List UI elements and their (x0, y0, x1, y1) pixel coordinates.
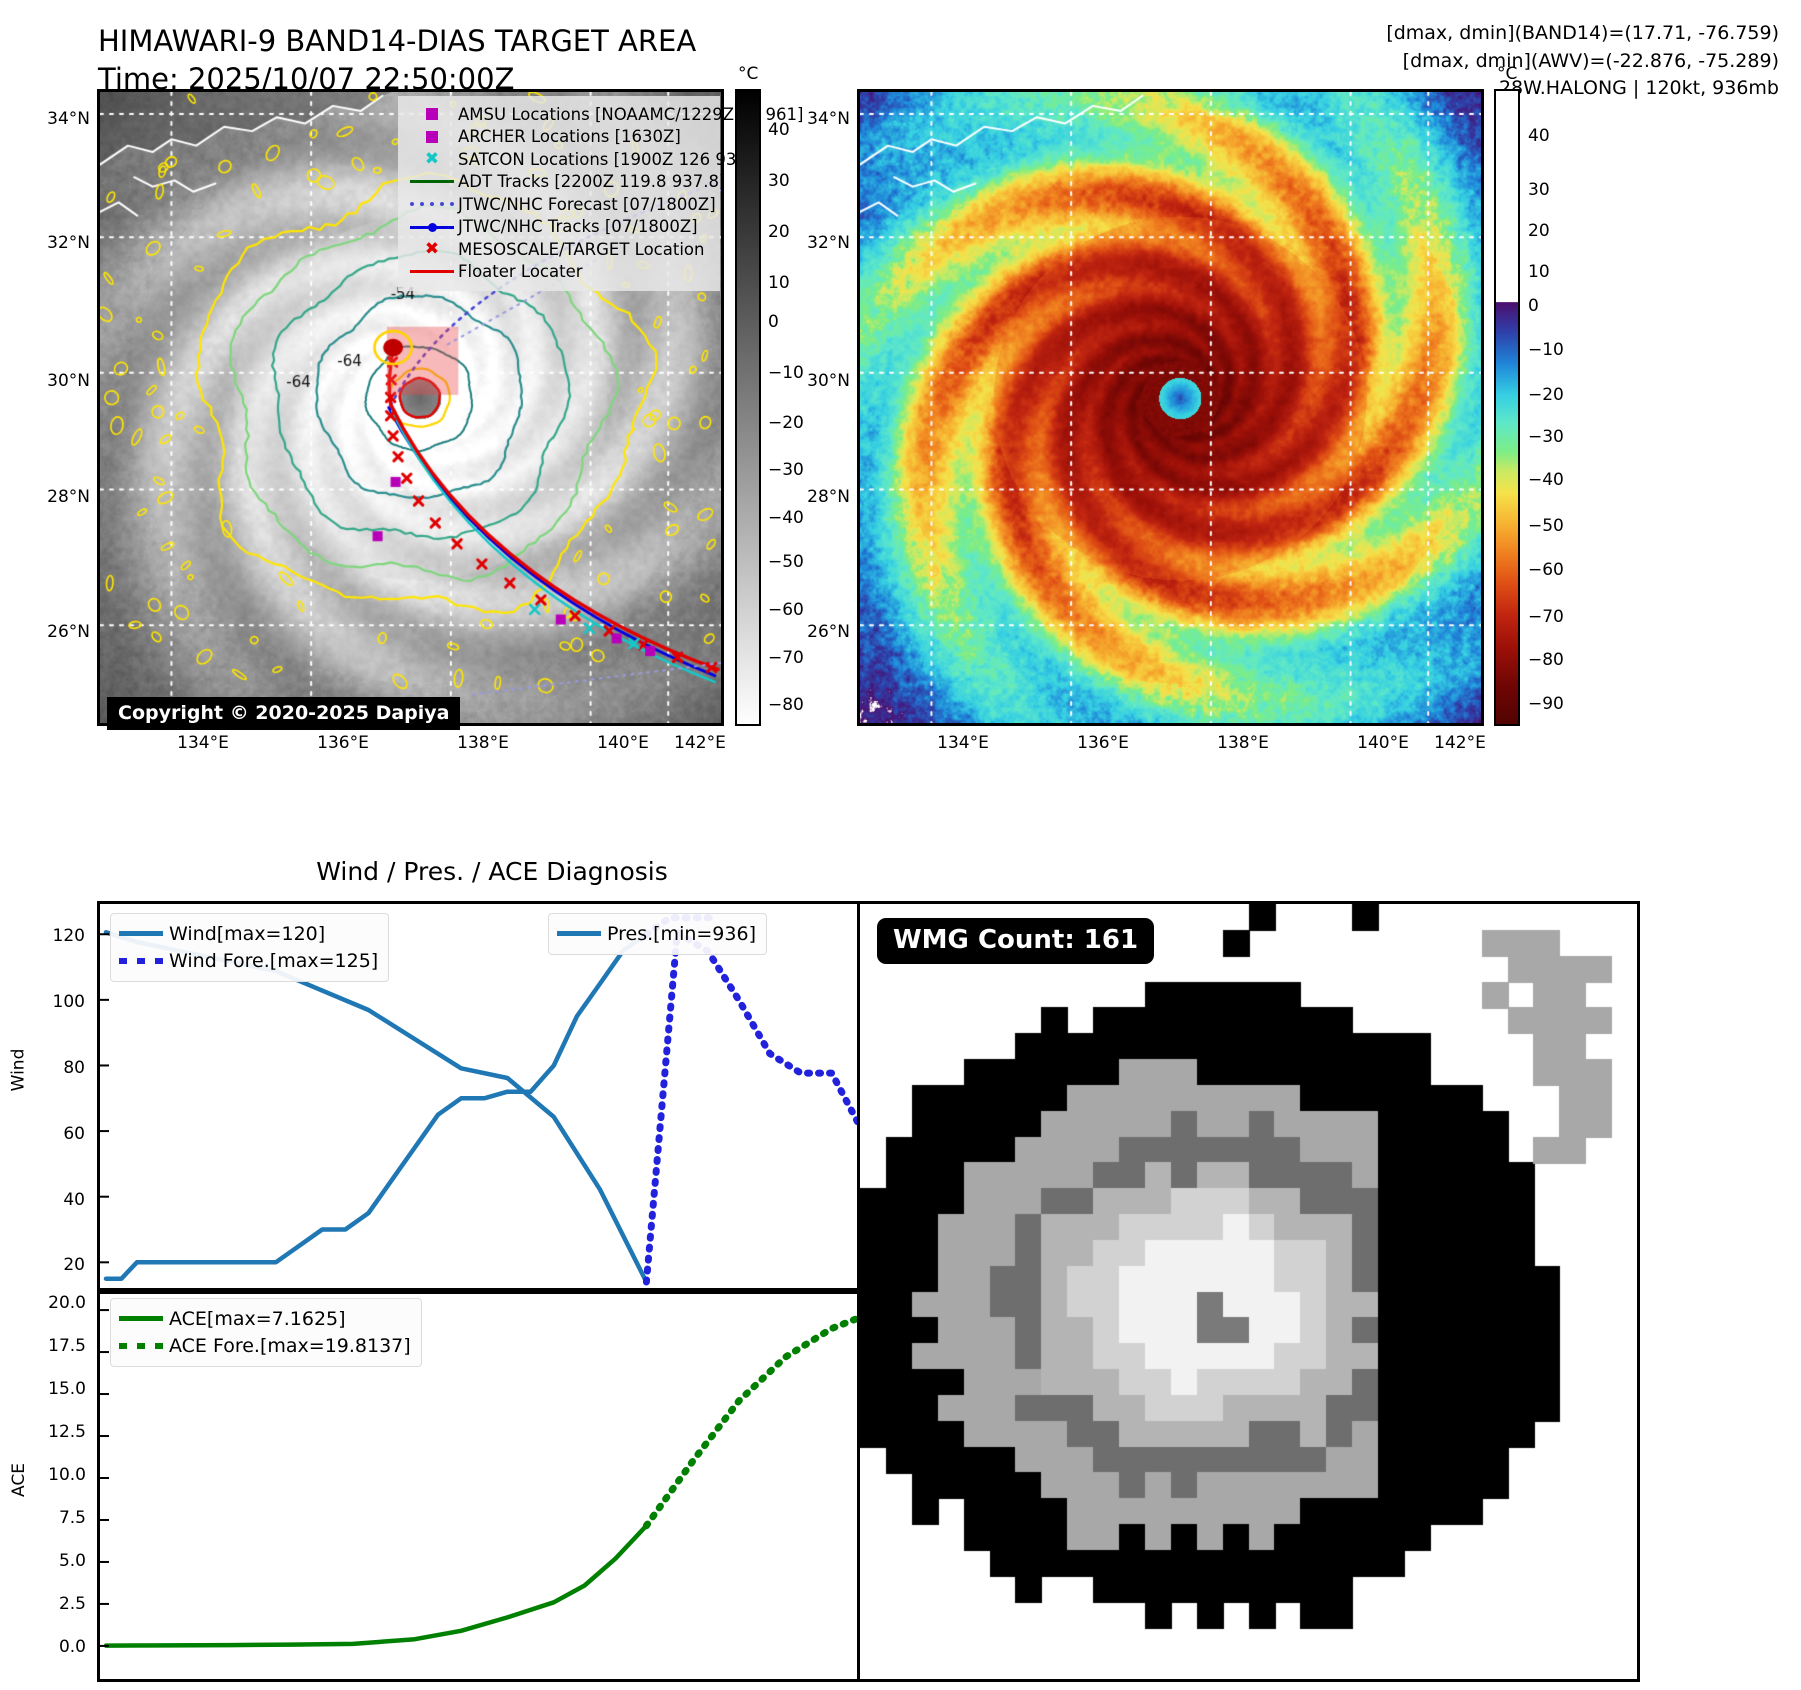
ace-forecast-legend-item[interactable]: ACE Fore.[max=19.8137] (119, 1332, 411, 1359)
lon-tick-142e-right: 142°E (1420, 733, 1500, 753)
cbar-right-tick-40: 40 (1528, 126, 1550, 146)
ace-tick-2p5: 2.5 (20, 1594, 86, 1614)
wind-forecast-legend-label: Wind Fore.[max=125] (169, 950, 378, 972)
ace-tick-17p5: 17.5 (20, 1336, 86, 1356)
ace-legend-item[interactable]: ACE[max=7.1625] (119, 1305, 411, 1332)
ir-enhanced-image (860, 92, 1481, 723)
cbar-left-tick-m60: −60 (768, 600, 804, 620)
wind-tick-20: 20 (30, 1255, 85, 1275)
wmg-panel[interactable] (857, 901, 1640, 1682)
lon-tick-140e-right: 140°E (1343, 733, 1423, 753)
cbar-right-tick-m10: −10 (1528, 340, 1564, 360)
ir-enhanced-map[interactable] (857, 89, 1484, 726)
cbar-left-tick-m50: −50 (768, 552, 804, 572)
legend-item-jtwc-tracks[interactable]: JTWC/NHC Tracks [07/1800Z] (406, 216, 712, 239)
lat-tick-26n-right: 26°N (800, 622, 850, 642)
cbar-right-tick-20: 20 (1528, 221, 1550, 241)
wind-legend-label: Wind[max=120] (169, 923, 325, 945)
wind-tick-100: 100 (30, 992, 85, 1012)
square-marker-icon (406, 108, 458, 120)
cbar-left-tick-20: 20 (768, 222, 790, 242)
wind-tick-80: 80 (30, 1058, 85, 1078)
cbar-left-tick-40: 40 (768, 120, 790, 140)
cbar-right-tick-m90: −90 (1528, 694, 1564, 714)
cbar-left-tick-30: 30 (768, 171, 790, 191)
ace-legend: ACE[max=7.1625] ACE Fore.[max=19.8137] (110, 1298, 422, 1367)
copyright-banner: Copyright © 2020-2025 Dapiya (107, 697, 460, 730)
ace-tick-7p5: 7.5 (20, 1508, 86, 1528)
lat-tick-32n-right: 32°N (800, 233, 850, 253)
lat-tick-28n-right: 28°N (800, 487, 850, 507)
dotted-line-swatch-icon (119, 958, 169, 964)
pressure-legend: Pres.[min=936] (548, 913, 767, 955)
legend-item-jtwc-forecast[interactable]: JTWC/NHC Forecast [07/1800Z] (406, 193, 712, 216)
legend-label-adt-tracks: ADT Tracks [2200Z 119.8 937.8] (458, 172, 725, 191)
line-swatch-icon (406, 180, 458, 183)
lat-tick-28n-left: 28°N (40, 487, 90, 507)
cbar-right-tick-m50: −50 (1528, 516, 1564, 536)
lon-tick-134e-right: 134°E (923, 733, 1003, 753)
lon-tick-136e-left: 136°E (303, 733, 383, 753)
legend-label-archer: ARCHER Locations [1630Z] (458, 127, 681, 146)
line-swatch-icon (406, 270, 458, 273)
wind-tick-60: 60 (30, 1124, 85, 1144)
cbar-right-tick-30: 30 (1528, 180, 1550, 200)
lat-tick-32n-left: 32°N (40, 233, 90, 253)
lon-tick-138e-left: 138°E (443, 733, 523, 753)
ace-tick-10: 10.0 (20, 1465, 86, 1485)
lat-tick-34n-left: 34°N (40, 109, 90, 129)
ace-tick-20: 20.0 (20, 1293, 86, 1313)
ace-tick-12p5: 12.5 (20, 1422, 86, 1442)
page-title: HIMAWARI-9 BAND14-DIAS TARGET AREATime: … (98, 22, 696, 99)
wind-legend-item-wind[interactable]: Wind[max=120] (119, 920, 378, 947)
wind-tick-40: 40 (30, 1190, 85, 1210)
legend-item-archer[interactable]: ARCHER Locations [1630Z] (406, 126, 712, 149)
legend-label-floater-locater: Floater Locater (458, 262, 583, 281)
wmg-count-badge: WMG Count: 161 (877, 918, 1154, 964)
wind-axis-label: Wind (8, 1049, 28, 1092)
legend-item-adt-tracks[interactable]: ADT Tracks [2200Z 119.8 937.8] (406, 171, 712, 194)
pressure-legend-label: Pres.[min=936] (607, 923, 756, 945)
line-swatch-icon (119, 1316, 169, 1321)
cbar-left-tick-m10: −10 (768, 363, 804, 383)
wind-legend: Wind[max=120] Wind Fore.[max=125] (110, 913, 389, 982)
square-marker-icon (406, 131, 458, 143)
ace-legend-label: ACE[max=7.1625] (169, 1308, 346, 1330)
cbar-right-tick-m70: −70 (1528, 607, 1564, 627)
line-marker-swatch-icon (406, 222, 458, 232)
dmax-dmin-awv: [dmax, dmin](AWV)=(-22.876, -75.289) (1403, 50, 1779, 72)
cbar-right-tick-m30: −30 (1528, 427, 1564, 447)
lon-tick-136e-right: 136°E (1063, 733, 1143, 753)
lat-tick-26n-left: 26°N (40, 622, 90, 642)
lat-tick-30n-right: 30°N (800, 371, 850, 391)
ace-tick-15: 15.0 (20, 1379, 86, 1399)
x-marker-icon: ✖ (406, 241, 458, 258)
cbar-left-tick-m20: −20 (768, 413, 804, 433)
wmg-image (860, 904, 1637, 1679)
wind-legend-item-forecast[interactable]: Wind Fore.[max=125] (119, 947, 378, 974)
x-marker-icon: ✖ (406, 151, 458, 168)
legend-item-amsu[interactable]: AMSU Locations [NOAAMC/1229Z 96 961] (406, 103, 712, 126)
pressure-legend-item[interactable]: Pres.[min=936] (557, 920, 756, 947)
legend-item-mesoscale-target[interactable]: ✖ MESOSCALE/TARGET Location (406, 238, 712, 261)
colorbar-enhanced (1494, 89, 1520, 726)
cbar-right-tick-m40: −40 (1528, 470, 1564, 490)
map-legend: AMSU Locations [NOAAMC/1229Z 96 961] ARC… (398, 96, 720, 291)
lon-tick-142e-left: 142°E (660, 733, 740, 753)
cbar-left-tick-m80: −80 (768, 695, 804, 715)
lat-tick-34n-right: 34°N (800, 109, 850, 129)
colorbar-unit-right: °C (1497, 64, 1517, 84)
cbar-left-tick-m30: −30 (768, 460, 804, 480)
colorbar-grayscale (735, 89, 761, 726)
legend-label-jtwc-tracks: JTWC/NHC Tracks [07/1800Z] (458, 217, 698, 236)
cbar-right-tick-10: 10 (1528, 262, 1550, 282)
cbar-right-tick-0: 0 (1528, 296, 1539, 316)
ace-tick-5: 5.0 (20, 1551, 86, 1571)
lon-tick-140e-left: 140°E (583, 733, 663, 753)
dmax-dmin-band14: [dmax, dmin](BAND14)=(17.71, -76.759) (1386, 22, 1779, 44)
diagnosis-chart-title: Wind / Pres. / ACE Diagnosis (97, 857, 887, 886)
lon-tick-138e-right: 138°E (1203, 733, 1283, 753)
title-line-1: HIMAWARI-9 BAND14-DIAS TARGET AREA (98, 24, 696, 58)
cbar-left-tick-10: 10 (768, 273, 790, 293)
line-swatch-icon (119, 931, 169, 936)
legend-label-jtwc-forecast: JTWC/NHC Forecast [07/1800Z] (458, 195, 716, 214)
cbar-right-tick-m80: −80 (1528, 650, 1564, 670)
wind-tick-120: 120 (30, 926, 85, 946)
cbar-right-tick-m20: −20 (1528, 385, 1564, 405)
lat-tick-30n-left: 30°N (40, 371, 90, 391)
dotted-line-swatch-icon (119, 1343, 169, 1349)
ace-forecast-legend-label: ACE Fore.[max=19.8137] (169, 1335, 411, 1357)
dotted-line-swatch-icon (406, 202, 458, 206)
lon-tick-134e-left: 134°E (163, 733, 243, 753)
cbar-left-tick-m40: −40 (768, 508, 804, 528)
cbar-left-tick-0: 0 (768, 312, 779, 332)
legend-item-floater-locater[interactable]: Floater Locater (406, 261, 712, 284)
colorbar-unit-left: °C (738, 64, 758, 84)
legend-label-satcon: SATCON Locations [1900Z 126 936] (458, 150, 753, 169)
line-swatch-icon (557, 931, 607, 936)
storm-summary: 28W.HALONG | 120kt, 936mb (1499, 77, 1779, 99)
ace-tick-0: 0.0 (20, 1637, 86, 1657)
cbar-left-tick-m70: −70 (768, 648, 804, 668)
cbar-right-tick-m60: −60 (1528, 560, 1564, 580)
legend-label-mesoscale-target: MESOSCALE/TARGET Location (458, 240, 704, 259)
legend-item-satcon[interactable]: ✖ SATCON Locations [1900Z 126 936] (406, 148, 712, 171)
